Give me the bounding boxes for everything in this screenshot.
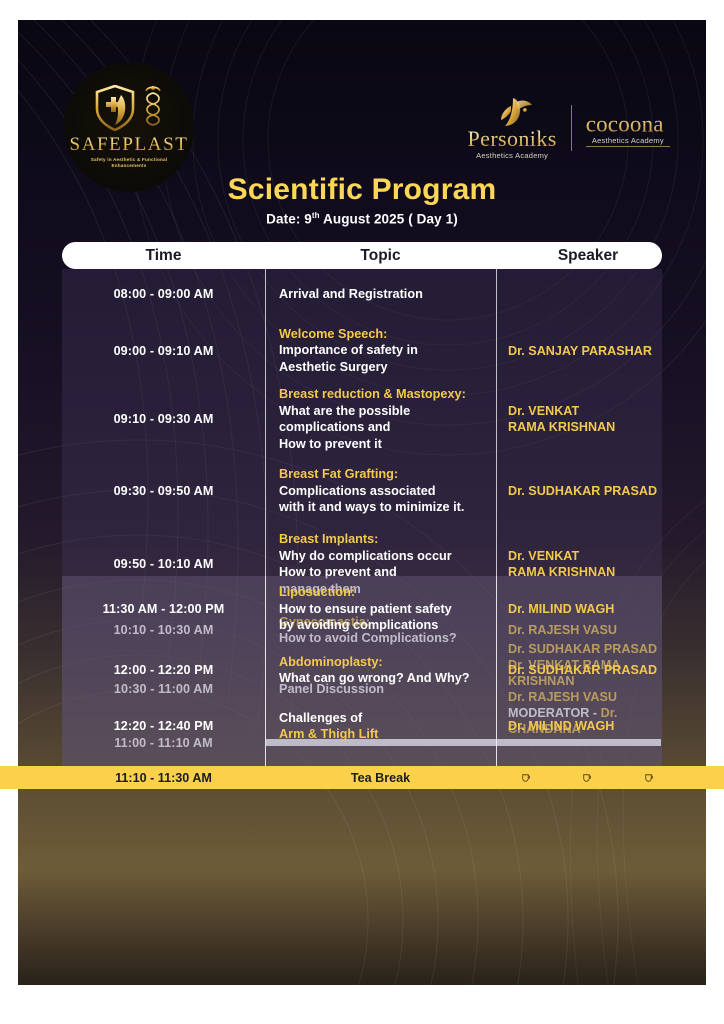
safeplast-wordmark: SAFEPLAST xyxy=(70,134,189,156)
row-time: 09:30 - 09:50 AM xyxy=(62,484,265,498)
speaker-name: Dr. SUDHAKAR PRASAD xyxy=(508,662,672,678)
row-speaker: Dr. MILIND WAGH xyxy=(496,718,680,734)
topic-body: Challenges of xyxy=(279,710,488,727)
topic-heading: Abdominoplasty: xyxy=(279,654,488,671)
column-header-time: Time xyxy=(62,247,265,265)
table-row: 11:30 AM - 12:00 PM Liposuction: How to … xyxy=(62,576,662,642)
tea-cup-icon xyxy=(582,772,593,783)
caduceus-icon xyxy=(142,85,164,131)
table-row: 09:30 - 09:50 AM Breast Fat Grafting: Co… xyxy=(62,456,662,526)
row-topic: Breast Fat Grafting: Complications assoc… xyxy=(265,466,496,516)
date-suffix: August 2025 ( Day 1) xyxy=(320,212,458,227)
cocoona-subtitle: Aesthetics Academy xyxy=(586,136,670,147)
tea-break-row: 11:10 - 11:30 AM Tea Break xyxy=(0,766,724,789)
program-date: Date: 9th August 2025 ( Day 1) xyxy=(18,211,706,227)
row-time: 09:50 - 10:10 AM xyxy=(62,557,265,571)
speaker-name: Dr. VENKAT xyxy=(508,548,672,564)
lower-table-panel: 11:30 AM - 12:00 PM Liposuction: How to … xyxy=(62,576,662,776)
topic-heading: Breast Fat Grafting: xyxy=(279,466,488,483)
row-time: 11:30 AM - 12:00 PM xyxy=(62,602,265,616)
topic-heading: Breast reduction & Mastopexy: xyxy=(279,386,488,403)
tea-break-time: 11:10 - 11:30 AM xyxy=(62,771,265,785)
topic-body: What are the possible complications and … xyxy=(279,403,488,453)
tea-break-icons xyxy=(496,772,680,783)
personiks-wordmark: Personiks xyxy=(468,128,557,150)
table-row: 08:00 - 09:00 AM Arrival and Registratio… xyxy=(62,269,662,319)
title-block: Scientific Program Date: 9th August 2025… xyxy=(18,172,706,227)
speaker-name: Dr. VENKAT xyxy=(508,403,672,419)
topic-body: Complications associated with it and way… xyxy=(279,483,488,516)
topic-heading: Liposuction: xyxy=(279,584,488,601)
row-speaker: Dr. SUDHAKAR PRASAD xyxy=(496,662,680,678)
personiks-subtitle: Aesthetics Academy xyxy=(468,151,557,160)
topic-heading: Breast Implants: xyxy=(279,531,488,548)
table-row: 12:00 - 12:20 PM Abdominoplasty: What ca… xyxy=(62,642,662,698)
column-header-topic: Topic xyxy=(265,247,496,265)
page-title: Scientific Program xyxy=(18,172,706,208)
speaker-name: Dr. SUDHAKAR PRASAD xyxy=(508,483,672,499)
speaker-name: Dr. SANJAY PARASHAR xyxy=(508,343,672,359)
column-header-speaker: Speaker xyxy=(496,247,680,265)
row-topic: Welcome Speech: Importance of safety in … xyxy=(265,326,496,376)
row-topic: Abdominoplasty: What can go wrong? And W… xyxy=(265,654,496,687)
topic-body: What can go wrong? And Why? xyxy=(279,670,488,687)
table-row: 09:10 - 09:30 AM Breast reduction & Mast… xyxy=(62,382,662,456)
table-row: 09:00 - 09:10 AM Welcome Speech: Importa… xyxy=(62,319,662,382)
row-time: 12:00 - 12:20 PM xyxy=(62,663,265,677)
tea-cup-icon xyxy=(521,772,532,783)
tea-cup-icon xyxy=(644,772,655,783)
registered-mark-icon: ® xyxy=(664,107,670,116)
row-speaker: Dr. SANJAY PARASHAR xyxy=(496,343,680,359)
row-time: 08:00 - 09:00 AM xyxy=(62,287,265,301)
row-speaker: Dr. MILIND WAGH xyxy=(496,601,680,617)
row-speaker: Dr. SUDHAKAR PRASAD xyxy=(496,483,680,499)
butterfly-icon xyxy=(489,96,535,130)
personiks-logo: Personiks Aesthetics Academy xyxy=(468,96,557,160)
logo-marks xyxy=(95,85,164,131)
topic-body: Arrival and Registration xyxy=(279,286,488,303)
row-topic: Liposuction: How to ensure patient safet… xyxy=(265,584,496,634)
speaker-name: Dr. MILIND WAGH xyxy=(508,718,672,734)
table-header-row: Time Topic Speaker xyxy=(62,242,662,269)
cocoona-wordmark: cocoona® xyxy=(586,109,670,136)
date-prefix: Date: 9 xyxy=(266,212,312,227)
row-time: 09:00 - 09:10 AM xyxy=(62,344,265,358)
tea-break-label: Tea Break xyxy=(265,771,496,785)
safeplast-tagline: Safety in Aesthetic & Functional Enhance… xyxy=(77,157,181,169)
sponsor-logos: Personiks Aesthetics Academy cocoona® Ae… xyxy=(468,96,670,160)
speaker-name: Dr. MILIND WAGH xyxy=(508,601,672,617)
speaker-name: RAMA KRISHNAN xyxy=(508,419,672,435)
topic-body: Importance of safety in Aesthetic Surger… xyxy=(279,342,488,375)
topic-heading: Welcome Speech: xyxy=(279,326,488,343)
row-time: 12:20 - 12:40 PM xyxy=(62,719,265,733)
topic-heading: Arm & Thigh Lift xyxy=(279,726,488,743)
topic-body: How to ensure patient safety by avoiding… xyxy=(279,601,488,634)
row-topic: Challenges of Arm & Thigh Lift xyxy=(265,710,496,743)
date-ordinal: th xyxy=(312,211,320,220)
sponsor-divider xyxy=(571,105,572,151)
poster-page: SAFEPLAST Safety in Aesthetic & Function… xyxy=(0,0,724,1024)
row-topic: Arrival and Registration xyxy=(265,286,496,303)
row-topic: Breast reduction & Mastopexy: What are t… xyxy=(265,386,496,452)
row-speaker: Dr. VENKAT RAMA KRISHNAN xyxy=(496,403,680,435)
cocoona-text: cocoona xyxy=(586,111,664,136)
shield-medical-cross-face-icon xyxy=(95,85,135,131)
poster-canvas: SAFEPLAST Safety in Aesthetic & Function… xyxy=(18,20,706,985)
table-row: 12:20 - 12:40 PM Challenges of Arm & Thi… xyxy=(62,698,662,754)
cocoona-logo: cocoona® Aesthetics Academy xyxy=(586,109,670,148)
row-time: 09:10 - 09:30 AM xyxy=(62,412,265,426)
